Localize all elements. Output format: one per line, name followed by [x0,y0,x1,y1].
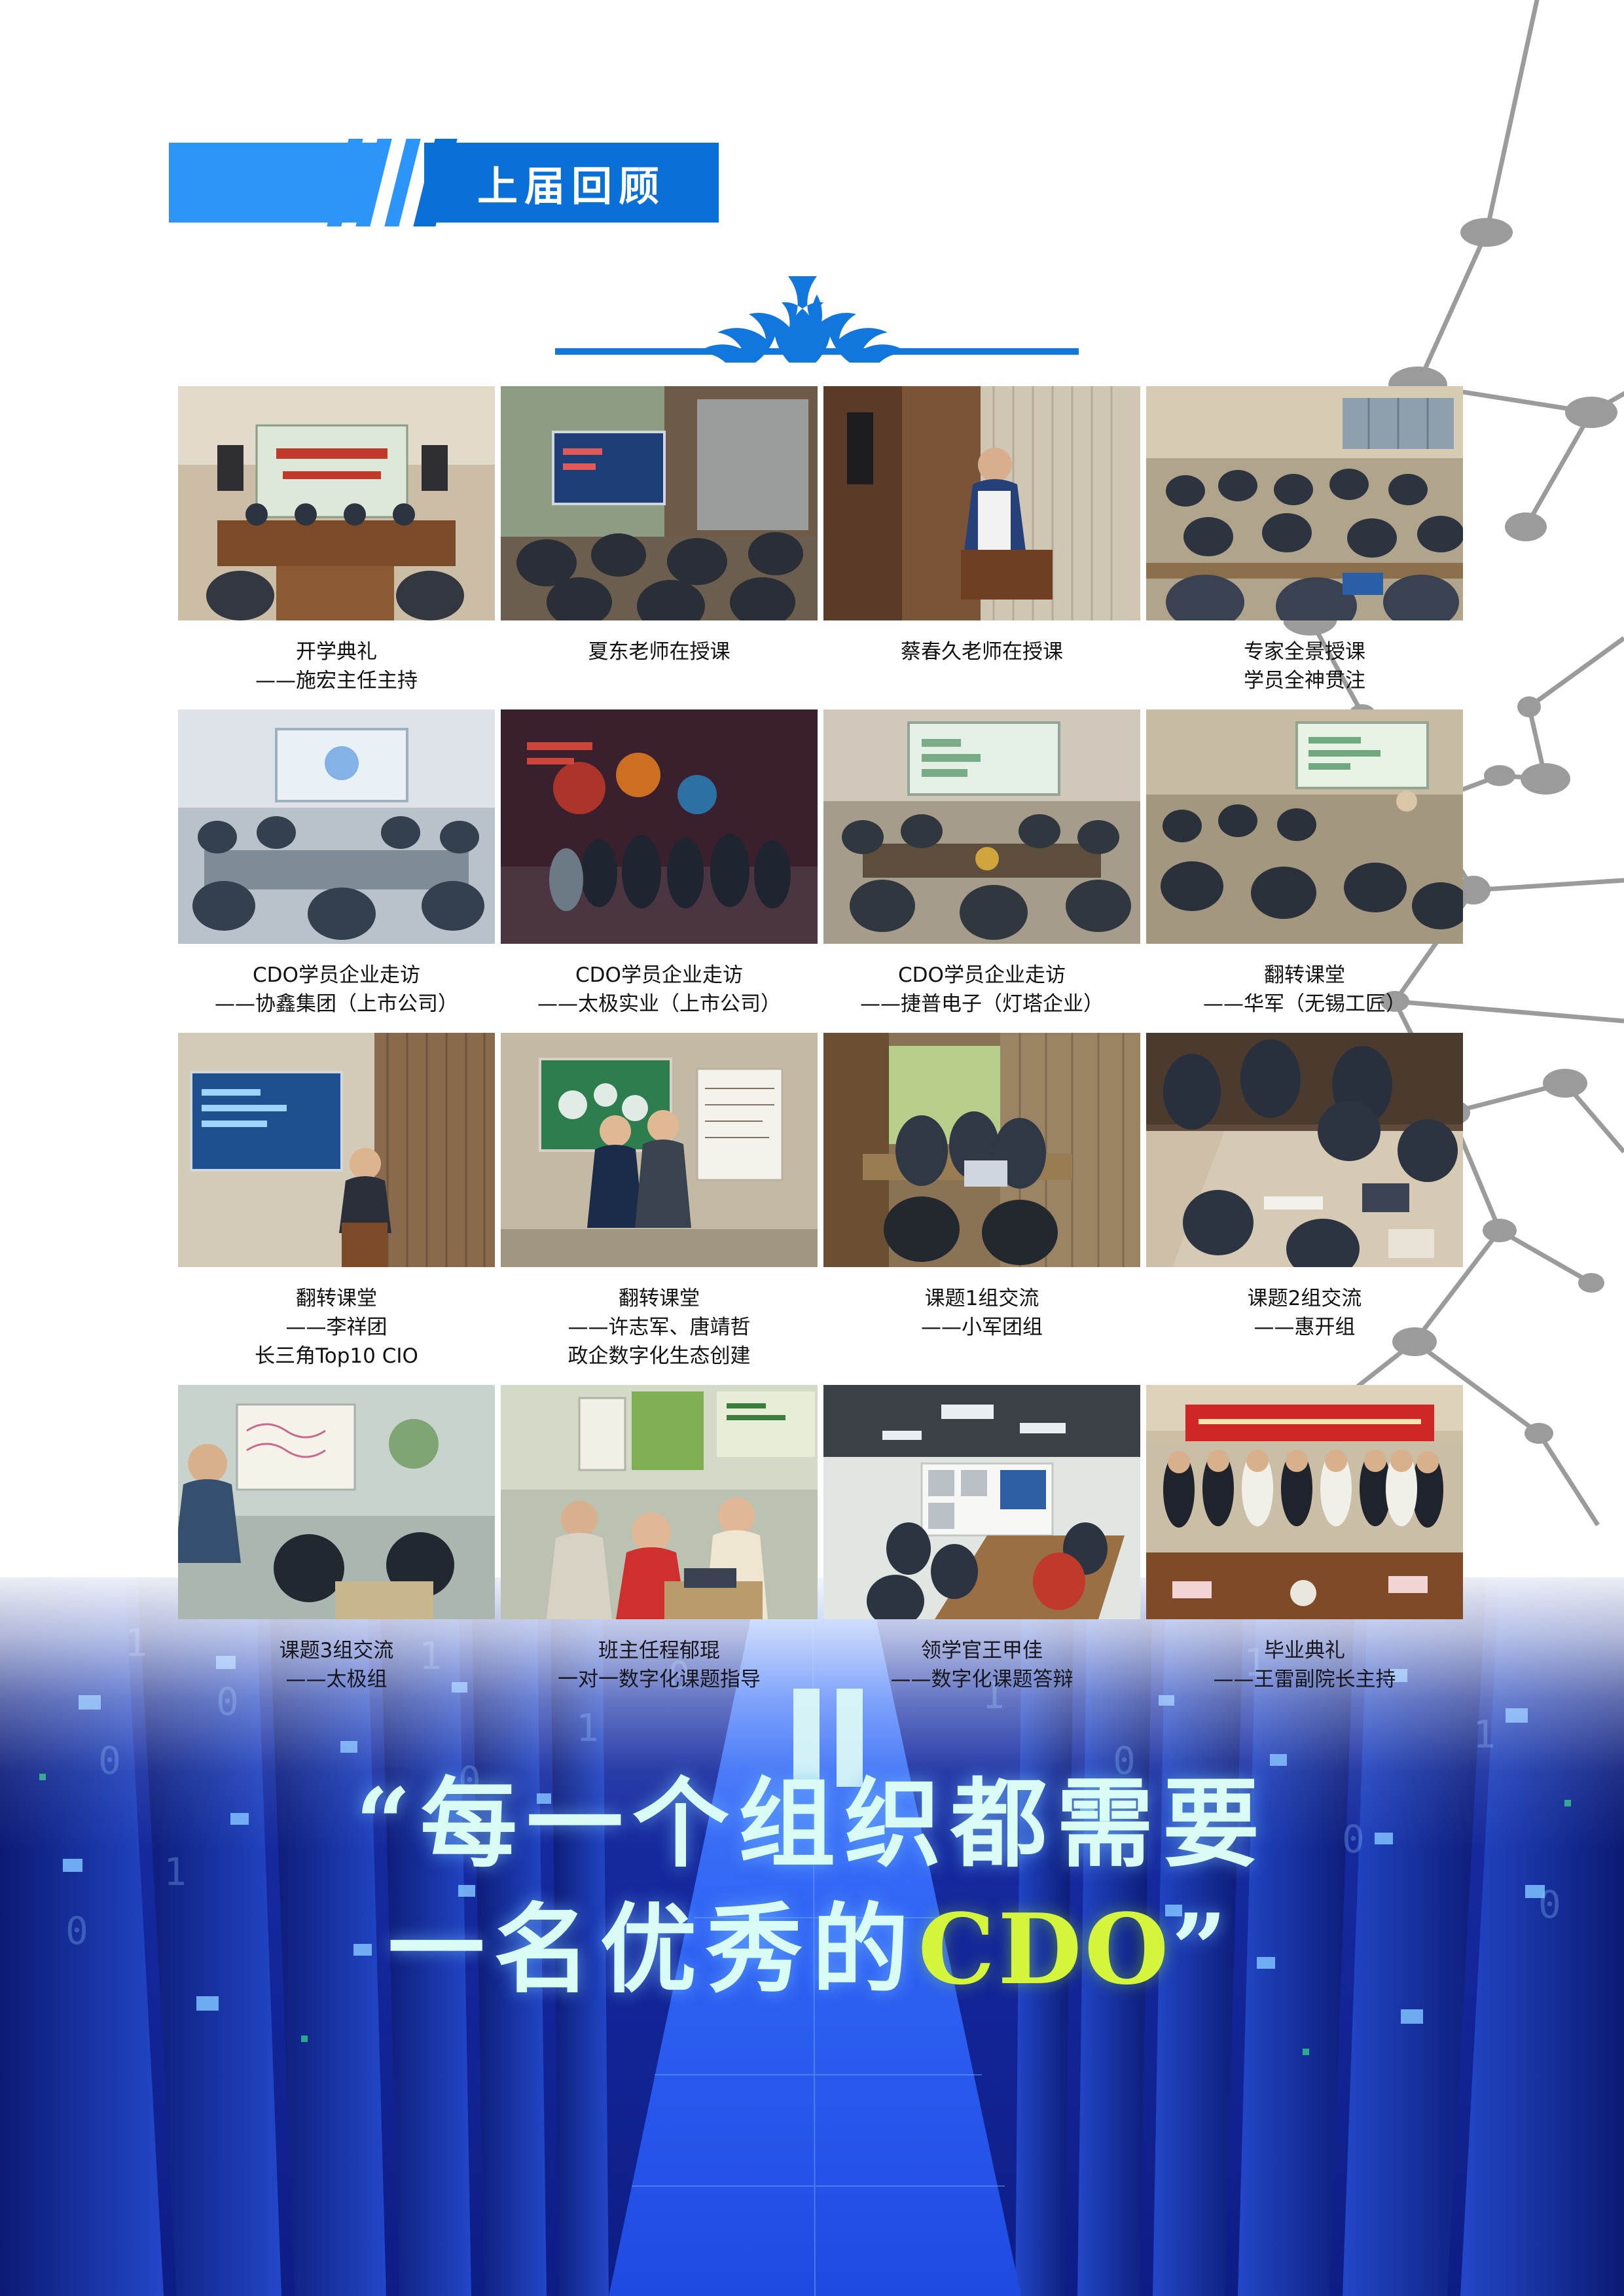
quote-suffix: ” [1171,1892,1236,2006]
gallery-photo-visit-jabil[interactable] [823,709,1140,944]
quote-highlight-cdo: CDO [918,1892,1171,2006]
gallery-caption: 夏东老师在授课 [501,620,818,681]
gallery-caption: 专家全景授课学员全神贯注 [1146,620,1463,709]
gallery-photo-flipped-xu-tang[interactable] [501,1033,818,1267]
poster-page: 上届回顾 [0,0,1624,2296]
caption-line: ——施宏主任主持 [178,666,495,695]
gallery-photo-visit-taiji[interactable] [501,709,818,944]
closing-quote: “每一个组织都需要 一名优秀的CDO” [0,1761,1624,2013]
gallery-caption: 课题1组交流——小军团组 [823,1267,1140,1356]
gallery-caption: CDO学员企业走访——太极实业（上市公司） [501,944,818,1033]
caption-line: ——王雷副院长主持 [1146,1665,1463,1694]
gallery-cell: 夏东老师在授课 [501,386,818,709]
caption-line: CDO学员企业走访 [823,961,1140,990]
caption-line: ——太极实业（上市公司） [501,990,818,1018]
gallery-cell: 翻转课堂——华军（无锡工匠） [1146,709,1463,1033]
caption-line: 一对一数字化课题指导 [501,1665,818,1694]
caption-line: 领学官王甲佳 [823,1636,1140,1665]
gallery-caption: 课题2组交流——惠开组 [1146,1267,1463,1356]
caption-line: 夏东老师在授课 [501,637,818,666]
caption-line: 长三角Top10 CIO [178,1342,495,1371]
gallery-caption: 领学官王甲佳——数字化课题答辩 [823,1619,1140,1708]
caption-line: ——小军团组 [823,1313,1140,1342]
gallery-row: 开学典礼——施宏主任主持夏东老师在授课蔡春久老师在授课专家全景授课学员全神贯注 [178,386,1461,709]
photo-gallery-grid: 开学典礼——施宏主任主持夏东老师在授课蔡春久老师在授课专家全景授课学员全神贯注C… [178,386,1461,1708]
caption-line: 课题2组交流 [1146,1284,1463,1313]
gallery-caption: 开学典礼——施宏主任主持 [178,620,495,709]
gallery-photo-lecture-caichunjiu[interactable] [823,386,1140,620]
gallery-cell: 开学典礼——施宏主任主持 [178,386,495,709]
gallery-photo-flipped-huajun[interactable] [1146,709,1463,944]
gallery-photo-group3-discussion[interactable] [178,1385,495,1619]
caption-line: 课题1组交流 [823,1284,1140,1313]
section-banner: 上届回顾 [169,143,719,223]
gallery-photo-flipped-lixiangtuan[interactable] [178,1033,495,1267]
gallery-cell: 课题1组交流——小军团组 [823,1033,1140,1385]
gallery-row: 翻转课堂——李祥团长三角Top10 CIO翻转课堂——许志军、唐靖哲政企数字化生… [178,1033,1461,1385]
gallery-cell: 专家全景授课学员全神贯注 [1146,386,1463,709]
page-title: 上届回顾 [431,143,712,223]
gallery-photo-opening-ceremony[interactable] [178,386,495,620]
caption-line: ——华军（无锡工匠） [1146,990,1463,1018]
caption-line: CDO学员企业走访 [178,961,495,990]
gallery-caption: 翻转课堂——华军（无锡工匠） [1146,944,1463,1033]
gallery-cell: 班主任程郁琨一对一数字化课题指导 [501,1385,818,1708]
caption-line: 课题3组交流 [178,1636,495,1665]
gallery-cell: 毕业典礼——王雷副院长主持 [1146,1385,1463,1708]
caption-line: ——协鑫集团（上市公司） [178,990,495,1018]
gallery-caption: 班主任程郁琨一对一数字化课题指导 [501,1619,818,1708]
caption-line: 翻转课堂 [1146,961,1463,990]
gallery-caption: 蔡春久老师在授课 [823,620,1140,681]
caption-line: 专家全景授课 [1146,637,1463,666]
gallery-cell: 翻转课堂——李祥团长三角Top10 CIO [178,1033,495,1385]
gallery-caption: CDO学员企业走访——捷普电子（灯塔企业） [823,944,1140,1033]
gallery-photo-group1-discussion[interactable] [823,1033,1140,1267]
gallery-photo-graduation-ceremony[interactable] [1146,1385,1463,1619]
gallery-photo-visit-gcl[interactable] [178,709,495,944]
floral-ornament-divider [549,264,1085,363]
gallery-cell: 领学官王甲佳——数字化课题答辩 [823,1385,1140,1708]
caption-line: ——捷普电子（灯塔企业） [823,990,1140,1018]
quote-line-1: “每一个组织都需要 [0,1761,1624,1886]
gallery-photo-expert-panorama[interactable] [1146,386,1463,620]
caption-line: ——李祥团 [178,1313,495,1342]
gallery-caption: 毕业典礼——王雷副院长主持 [1146,1619,1463,1708]
gallery-caption: 翻转课堂——李祥团长三角Top10 CIO [178,1267,495,1385]
gallery-cell: 翻转课堂——许志军、唐靖哲政企数字化生态创建 [501,1033,818,1385]
caption-line: 开学典礼 [178,637,495,666]
gallery-cell: CDO学员企业走访——协鑫集团（上市公司） [178,709,495,1033]
caption-line: 翻转课堂 [178,1284,495,1313]
caption-line: ——惠开组 [1146,1313,1463,1342]
gallery-caption: CDO学员企业走访——协鑫集团（上市公司） [178,944,495,1033]
caption-line: 翻转课堂 [501,1284,818,1313]
gallery-caption: 课题3组交流——太极组 [178,1619,495,1708]
quote-line-2: 一名优秀的CDO” [0,1886,1624,2012]
gallery-caption: 翻转课堂——许志军、唐靖哲政企数字化生态创建 [501,1267,818,1385]
gallery-cell: CDO学员企业走访——捷普电子（灯塔企业） [823,709,1140,1033]
caption-line: ——太极组 [178,1665,495,1694]
gallery-photo-lecture-xiadong[interactable] [501,386,818,620]
caption-line: 毕业典礼 [1146,1636,1463,1665]
gallery-cell: 课题2组交流——惠开组 [1146,1033,1463,1385]
gallery-cell: 课题3组交流——太极组 [178,1385,495,1708]
caption-line: CDO学员企业走访 [501,961,818,990]
gallery-photo-defense-wangjiajia[interactable] [823,1385,1140,1619]
gallery-row: 课题3组交流——太极组班主任程郁琨一对一数字化课题指导领学官王甲佳——数字化课题… [178,1385,1461,1708]
caption-line: ——数字化课题答辩 [823,1665,1140,1694]
quote-prefix: 一名优秀的 [388,1892,918,2006]
gallery-cell: 蔡春久老师在授课 [823,386,1140,709]
caption-line: ——许志军、唐靖哲 [501,1313,818,1342]
gallery-cell: CDO学员企业走访——太极实业（上市公司） [501,709,818,1033]
gallery-photo-group2-discussion[interactable] [1146,1033,1463,1267]
gallery-row: CDO学员企业走访——协鑫集团（上市公司）CDO学员企业走访——太极实业（上市公… [178,709,1461,1033]
caption-line: 学员全神贯注 [1146,666,1463,695]
caption-line: 蔡春久老师在授课 [823,637,1140,666]
caption-line: 政企数字化生态创建 [501,1342,818,1371]
caption-line: 班主任程郁琨 [501,1636,818,1665]
gallery-photo-mentor-chengyukun[interactable] [501,1385,818,1619]
